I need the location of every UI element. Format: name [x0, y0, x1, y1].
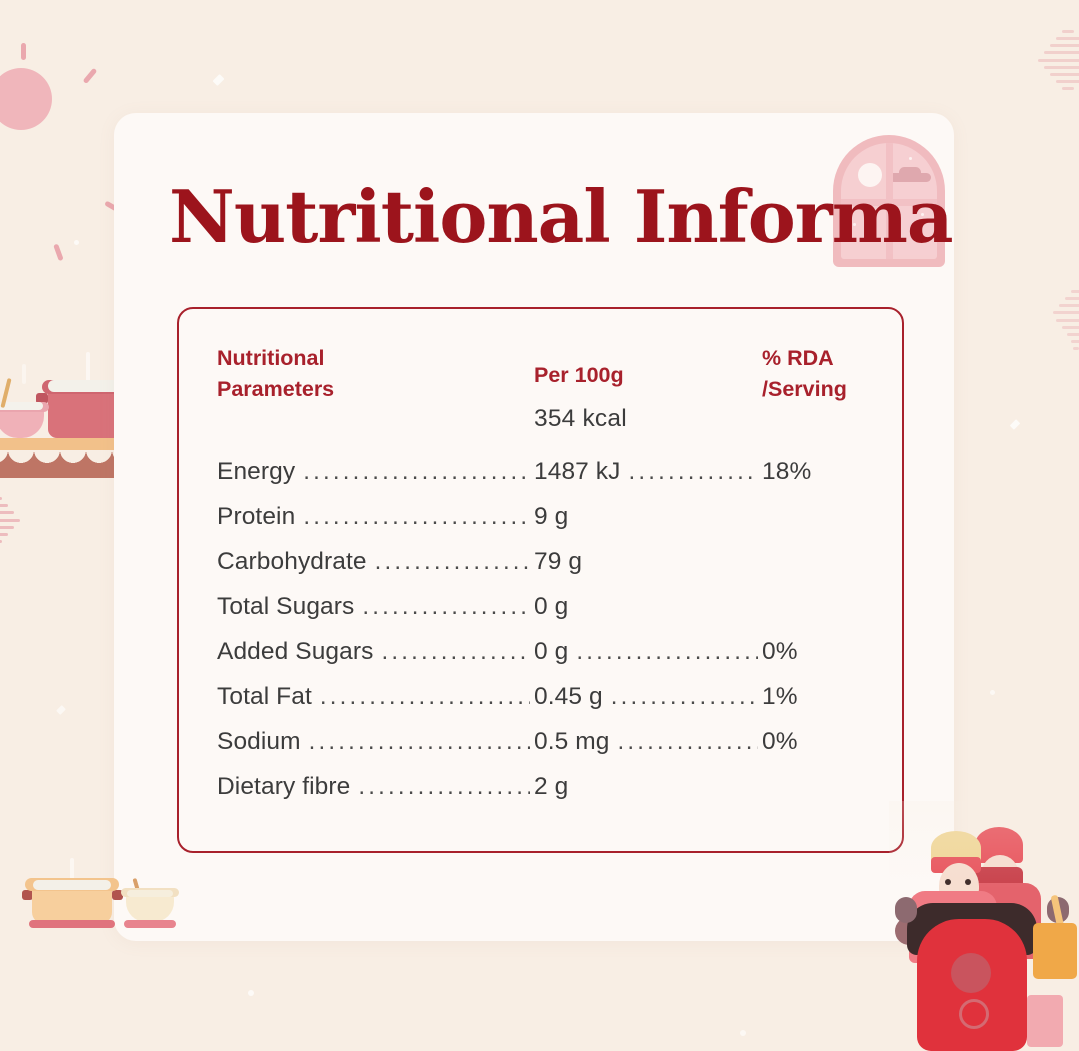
bowl-food [127, 890, 173, 897]
table-body: Energy1487 kJ...........................… [179, 449, 902, 809]
leader-dots: ........................... [362, 595, 530, 619]
column-header-per-100g: Per 100g [534, 360, 624, 391]
table-row: Added Sugars0 g........................0… [179, 629, 902, 674]
sparkle-icon [74, 240, 79, 245]
row-value-per-100g: 1487 kJ [534, 458, 621, 486]
table-row: Sodium0.5 mg............................… [179, 719, 902, 764]
sparkle-icon [990, 690, 995, 695]
row-value-rda: 0% [762, 638, 798, 666]
row-value-rda: 1% [762, 683, 798, 711]
row-value-per-100g: 2 g [534, 773, 568, 801]
leader-dots: .................................. [303, 505, 530, 529]
rice-bowl-illustration [0, 408, 44, 438]
nutrition-table: Nutritional Parameters Per 100g % RDA /S… [177, 307, 904, 853]
sparkle-icon [248, 990, 254, 996]
leader-dots: ...................... [358, 775, 530, 799]
leader-dots: ........................ [381, 640, 530, 664]
row-label: Carbohydrate [217, 548, 367, 576]
leader-dots: ............................... [309, 730, 530, 754]
energy-kcal-value: 354 kcal [534, 405, 627, 433]
row-label: Sodium [217, 728, 301, 756]
column-header-rda-line1: % RDA [762, 343, 847, 374]
row-label: Total Sugars [217, 593, 354, 621]
row-value-per-100g: 0 g [534, 638, 568, 666]
table-row: Dietary fibre2 g...................... [179, 764, 902, 809]
page-title: Nutritional Information [169, 181, 954, 253]
sun-core [0, 68, 52, 130]
row-value-rda: 18% [762, 458, 811, 486]
row-label: Protein [217, 503, 295, 531]
striped-diamond-ornament [1032, 30, 1079, 90]
sun-icon [0, 40, 80, 158]
table-row: Energy1487 kJ...........................… [179, 449, 902, 494]
column-header-parameters-line2: Parameters [217, 374, 417, 405]
column-header-rda-line2: /Serving [762, 374, 847, 405]
leader-dots: .................... [618, 730, 759, 754]
row-value-per-100g: 9 g [534, 503, 568, 531]
row-label: Energy [217, 458, 295, 486]
table-row: Total Fat0.45 g.........................… [179, 674, 902, 719]
leader-dots: ........................ [576, 640, 758, 664]
row-value-per-100g: 79 g [534, 548, 582, 576]
leader-dots: ............................... [320, 685, 530, 709]
row-label: Dietary fibre [217, 773, 350, 801]
column-header-rda: % RDA /Serving [762, 343, 847, 404]
column-header-parameters-line1: Nutritional [217, 343, 417, 374]
column-header-parameters: Nutritional Parameters [217, 343, 417, 404]
row-value-per-100g: 0 g [534, 593, 568, 621]
family-on-scooter-illustration [889, 801, 1079, 1051]
row-label: Added Sugars [217, 638, 373, 666]
row-label: Total Fat [217, 683, 312, 711]
striped-diamond-ornament [1040, 290, 1079, 350]
row-value-rda: 0% [762, 728, 798, 756]
leader-dots: ........................ [375, 550, 530, 574]
table-row: Protein9 g..............................… [179, 494, 902, 539]
bowl-food [0, 402, 43, 410]
pot-rice [33, 880, 111, 890]
leader-dots: .................. [629, 460, 758, 484]
row-value-per-100g: 0.5 mg [534, 728, 610, 756]
nutrition-card: Nutritional Information Nutritional Para… [114, 113, 954, 941]
pot-base [29, 920, 115, 928]
table-row: Carbohydrate79 g........................ [179, 539, 902, 584]
kitchen-pot-bowl-illustration [8, 858, 193, 968]
poster-canvas: Nutritional Information Nutritional Para… [0, 0, 1079, 1051]
striped-diamond-ornament [0, 490, 26, 550]
leader-dots: .................... [611, 685, 758, 709]
sparkle-icon [740, 1030, 746, 1036]
bowl-base [124, 920, 176, 928]
leader-dots: ................................... [303, 460, 530, 484]
cooking-pot-illustration [32, 886, 112, 924]
table-row: Total Sugars0 g.........................… [179, 584, 902, 629]
row-value-per-100g: 0.45 g [534, 683, 603, 711]
rice-bowl-illustration [126, 894, 174, 922]
